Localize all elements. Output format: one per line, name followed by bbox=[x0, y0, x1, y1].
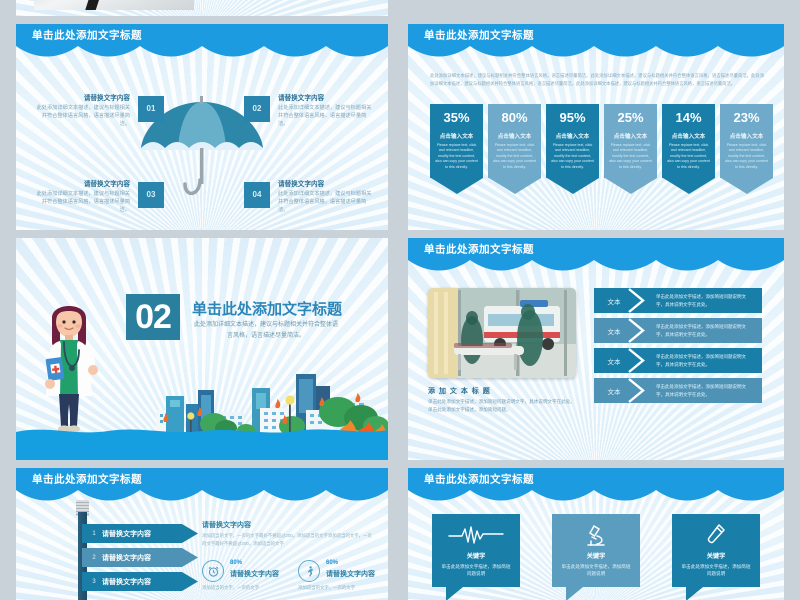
percent-banner-3[interactable]: 95% 点击输入文本 Please replace text, click an… bbox=[546, 104, 599, 194]
sign-number: 2 bbox=[86, 555, 102, 561]
banner-caption: 点击输入文本 bbox=[725, 132, 768, 140]
banner-english: Please replace text, click and relevant … bbox=[551, 143, 594, 170]
bubble-desc: 单击此处添加文字描述，添加简短问题说明 bbox=[680, 563, 752, 578]
ecg-heartbeat-icon bbox=[440, 523, 512, 547]
slide-title: 单击此处添加文字标题 bbox=[424, 242, 534, 257]
slide-title-bar: 单击此处添加文字标题 bbox=[408, 238, 784, 260]
chevron-text: 单击此处添加文字描述，添加简短问题说明文字，具体说明文字在此处。 bbox=[634, 323, 762, 338]
template-preview-page: 单击此处添加文字标题 01 请替换文字内容 此处添加详细文本描述，建议与标题相关… bbox=[0, 0, 800, 600]
stat-desc: 添加适当的文字，一页的文字 bbox=[298, 584, 388, 591]
chevron-arrow-icon bbox=[627, 318, 647, 343]
doctor-illustration bbox=[34, 292, 104, 444]
banner-percent: 80% bbox=[493, 110, 536, 125]
banner-tip bbox=[663, 178, 715, 194]
callout-heading: 请替换文字内容 bbox=[278, 178, 374, 188]
banner-tip bbox=[489, 178, 541, 194]
slide-section-divider[interactable]: 02 单击此处添加文字标题 此处添加详细文本描述，建议与标题相关并符合整体语言风… bbox=[16, 238, 388, 460]
slide-title-bar: 单击此处添加文字标题 bbox=[16, 24, 388, 46]
chevron-arrow-icon bbox=[627, 348, 647, 373]
bubble-body: 关键字 单击此处添加文字描述，添加简短问题说明 bbox=[672, 514, 760, 587]
stat-percent: 80% bbox=[230, 560, 242, 566]
banner-english: Please replace text, click and relevant … bbox=[725, 143, 768, 170]
banner-tip bbox=[431, 178, 483, 194]
percent-banner-6[interactable]: 23% 点击输入文本 Please replace text, click an… bbox=[720, 104, 773, 194]
chevron-arrow-icon bbox=[627, 378, 647, 403]
banner-body: 35% 点击输入文本 Please replace text, click an… bbox=[430, 104, 483, 178]
stat-percent: 60% bbox=[326, 560, 338, 566]
chevron-row-2[interactable]: 文本 单击此处添加文字描述，添加简短问题说明文字，具体说明文字在此处。 bbox=[594, 318, 762, 343]
umbrella-callout-text: 请替换文字内容 此处添加详细文本描述，建议与标题相关并符合整体语言风格，语言描述… bbox=[278, 92, 374, 128]
chevron-row-1[interactable]: 文本 单击此处添加文字描述，添加简短问题说明文字，具体说明文字在此处。 bbox=[594, 288, 762, 313]
bubble-desc: 单击此处添加文字描述，添加简短问题说明 bbox=[440, 563, 512, 578]
scallop-wave bbox=[408, 260, 784, 276]
signpost-sign-3[interactable]: 3 请替换文字内容 bbox=[82, 572, 198, 591]
slide-title-bar: 单击此处添加文字标题 bbox=[408, 468, 784, 490]
bubble-tail bbox=[686, 587, 703, 600]
slide-title: 单击此处添加文字标题 bbox=[424, 28, 534, 43]
scallop-wave bbox=[408, 46, 784, 62]
banner-percent: 25% bbox=[609, 110, 652, 125]
water-band bbox=[16, 434, 388, 460]
bubble-body: 关键字 单击此处添加文字描述，添加简短问题说明 bbox=[432, 514, 520, 587]
cropped-photo bbox=[34, 0, 194, 10]
signpost-right-body: 添加适当的文字，一页的文字最好不要超过200。添加适当的文字添加适当的文字，一页… bbox=[202, 532, 372, 547]
bubble-keyword: 关键字 bbox=[440, 551, 512, 560]
chevron-row-4[interactable]: 文本 单击此处添加文字描述，添加简短问题说明文字，具体说明文字在此处。 bbox=[594, 378, 762, 403]
chevron-text: 单击此处添加文字描述，添加简短问题说明文字，具体说明文字在此处。 bbox=[634, 293, 762, 308]
slide-title-bar: 单击此处添加文字标题 bbox=[16, 468, 388, 490]
percent-banner-1[interactable]: 35% 点击输入文本 Please replace text, click an… bbox=[430, 104, 483, 194]
photo-streak bbox=[78, 0, 127, 10]
percent-banner-2[interactable]: 80% 点击输入文本 Please replace text, click an… bbox=[488, 104, 541, 194]
banner-body: 80% 点击输入文本 Please replace text, click an… bbox=[488, 104, 541, 178]
banner-caption: 点击输入文本 bbox=[551, 132, 594, 140]
slide-title: 单击此处添加文字标题 bbox=[424, 472, 534, 487]
photo-caption-body: 单击此处添加文字描述，添加简短问题说明文字，具体说明文字在此处。单击此处添加文字… bbox=[428, 398, 578, 414]
bubble-tail bbox=[446, 587, 463, 600]
banner-english: Please replace text, click and relevant … bbox=[609, 143, 652, 170]
chevron-text: 单击此处添加文字描述，添加简短问题说明文字，具体说明文字在此处。 bbox=[634, 353, 762, 368]
chevron-row-3[interactable]: 文本 单击此处添加文字描述，添加简短问题说明文字，具体说明文字在此处。 bbox=[594, 348, 762, 373]
test-tube-icon bbox=[680, 523, 752, 547]
chevron-list: 文本 单击此处添加文字描述，添加简短问题说明文字，具体说明文字在此处。 文本 单… bbox=[594, 288, 762, 408]
microscope-icon bbox=[560, 523, 632, 547]
hospital-photo[interactable] bbox=[428, 288, 576, 378]
alarm-clock-icon bbox=[202, 560, 224, 582]
running-person-icon bbox=[298, 560, 320, 582]
slide-signpost[interactable]: 单击此处添加文字标题 1 请替换文字内容 2 请替换文字内容 bbox=[16, 468, 388, 600]
umbrella-number-badge: 01 bbox=[138, 96, 164, 122]
callout-body: 此处添加详细文本描述，建议与标题相关并符合整体语言风格，语言描述尽量简洁。 bbox=[278, 104, 374, 128]
keyword-bubble-3[interactable]: 关键字 单击此处添加文字描述，添加简短问题说明 bbox=[672, 514, 760, 600]
chevron-text: 单击此处添加文字描述，添加简短问题说明文字，具体说明文字在此处。 bbox=[634, 383, 762, 398]
banner-caption: 点击输入文本 bbox=[435, 132, 478, 140]
callout-heading: 请替换文字内容 bbox=[278, 92, 374, 102]
banner-tip bbox=[721, 178, 773, 194]
callout-body: 此处添加详细文本描述，建议与标题相关并符合整体语言风格，语言描述尽量简洁。 bbox=[34, 104, 130, 128]
slide-keyword-bubbles[interactable]: 单击此处添加文字标题 关键字 单击此处添加文字描述，添加简短问题说明 bbox=[408, 468, 784, 600]
stat-label: 请替换文字内容 bbox=[326, 569, 375, 579]
slide-title-bar: 单击此处添加文字标题 bbox=[408, 24, 784, 46]
sign-text: 请替换文字内容 bbox=[102, 577, 151, 587]
banner-percent: 95% bbox=[551, 110, 594, 125]
signpost-sign-1[interactable]: 1 请替换文字内容 bbox=[82, 524, 198, 543]
bubble-body: 关键字 单击此处添加文字描述，添加简短问题说明 bbox=[552, 514, 640, 587]
banner-percent: 23% bbox=[725, 110, 768, 125]
umbrella-number-badge: 03 bbox=[138, 182, 164, 208]
bubble-row: 关键字 单击此处添加文字描述，添加简短问题说明 bbox=[432, 514, 760, 600]
slide-title: 单击此处添加文字标题 bbox=[32, 28, 142, 43]
scallop-wave bbox=[16, 490, 388, 506]
umbrella-callout-text: 请替换文字内容 此处添加详细文本描述，建议与标题相关并符合整体语言风格，语言描述… bbox=[34, 92, 130, 128]
sign-number: 1 bbox=[86, 531, 102, 537]
slide-percent-banners[interactable]: 单击此处添加文字标题 此处添加详细文本描述，建议与标题相关并符合整体语言风格，语… bbox=[408, 24, 784, 230]
banner-body: 25% 点击输入文本 Please replace text, click an… bbox=[604, 104, 657, 178]
percent-banner-4[interactable]: 25% 点击输入文本 Please replace text, click an… bbox=[604, 104, 657, 194]
banner-body: 14% 点击输入文本 Please replace text, click an… bbox=[662, 104, 715, 178]
sign-number: 3 bbox=[86, 579, 102, 585]
banner-english: Please replace text, click and relevant … bbox=[435, 143, 478, 170]
keyword-bubble-1[interactable]: 关键字 单击此处添加文字描述，添加简短问题说明 bbox=[432, 514, 520, 600]
keyword-bubble-2[interactable]: 关键字 单击此处添加文字描述，添加简短问题说明 bbox=[552, 514, 640, 600]
umbrella-number-badge: 02 bbox=[244, 96, 270, 122]
banner-tip bbox=[547, 178, 599, 194]
percent-banner-row: 35% 点击输入文本 Please replace text, click an… bbox=[430, 104, 773, 194]
stat-desc: 添加适当的文字，一页的文字 bbox=[202, 584, 294, 591]
stat-label: 请替换文字内容 bbox=[230, 569, 279, 579]
photo-caption-heading: 添 加 文 本 标 题 bbox=[428, 386, 491, 396]
section-subtitle: 此处添加详细文本描述，建议与标题相关并符合整体语言风格，语言描述尽量简洁。 bbox=[192, 320, 340, 342]
slide-title: 单击此处添加文字标题 bbox=[32, 472, 142, 487]
banner-percent: 35% bbox=[435, 110, 478, 125]
bubble-keyword: 关键字 bbox=[560, 551, 632, 560]
slide-cropped-top[interactable] bbox=[16, 0, 388, 16]
percent-banner-5[interactable]: 14% 点击输入文本 Please replace text, click an… bbox=[662, 104, 715, 194]
callout-heading: 请替换文字内容 bbox=[34, 178, 130, 188]
banner-tip bbox=[605, 178, 657, 194]
bubble-keyword: 关键字 bbox=[680, 551, 752, 560]
callout-body: 此处添加详细文本描述，建议与标题相关并符合整体语言风格，语言描述尽量简洁。 bbox=[278, 190, 374, 214]
intro-paragraph: 此处添加详细文本描述，建议与标题相关并符合整体语言风格，语言描述尽量简洁。此处添… bbox=[430, 72, 764, 88]
banner-percent: 14% bbox=[667, 110, 710, 125]
umbrella-callout-text: 请替换文字内容 此处添加详细文本描述，建议与标题相关并符合整体语言风格，语言描述… bbox=[34, 178, 130, 214]
section-title: 单击此处添加文字标题 bbox=[192, 298, 342, 319]
sign-text: 请替换文字内容 bbox=[102, 529, 151, 539]
section-number: 02 bbox=[126, 294, 180, 340]
banner-body: 23% 点击输入文本 Please replace text, click an… bbox=[720, 104, 773, 178]
scallop-wave bbox=[408, 490, 784, 506]
bubble-desc: 单击此处添加文字描述，添加简短问题说明 bbox=[560, 563, 632, 578]
banner-caption: 点击输入文本 bbox=[609, 132, 652, 140]
scallop-wave bbox=[16, 46, 388, 62]
bubble-tail bbox=[566, 587, 583, 600]
signpost-sign-2[interactable]: 2 请替换文字内容 bbox=[82, 548, 198, 567]
banner-body: 95% 点击输入文本 Please replace text, click an… bbox=[546, 104, 599, 178]
banner-english: Please replace text, click and relevant … bbox=[493, 143, 536, 170]
banner-english: Please replace text, click and relevant … bbox=[667, 143, 710, 170]
chevron-arrow-icon bbox=[627, 288, 647, 313]
slide-umbrella[interactable]: 单击此处添加文字标题 01 请替换文字内容 此处添加详细文本描述，建议与标题相关… bbox=[16, 24, 388, 230]
umbrella-number-badge: 04 bbox=[244, 182, 270, 208]
banner-caption: 点击输入文本 bbox=[493, 132, 536, 140]
signpost-right-heading: 请替换文字内容 bbox=[202, 520, 251, 530]
banner-caption: 点击输入文本 bbox=[667, 132, 710, 140]
callout-body: 此处添加详细文本描述，建议与标题相关并符合整体语言风格，语言描述尽量简洁。 bbox=[34, 190, 130, 214]
slide-photo-chevrons[interactable]: 单击此处添加文字标题 bbox=[408, 238, 784, 460]
sign-text: 请替换文字内容 bbox=[102, 553, 151, 563]
umbrella-callout-text: 请替换文字内容 此处添加详细文本描述，建议与标题相关并符合整体语言风格，语言描述… bbox=[278, 178, 374, 214]
callout-heading: 请替换文字内容 bbox=[34, 92, 130, 102]
